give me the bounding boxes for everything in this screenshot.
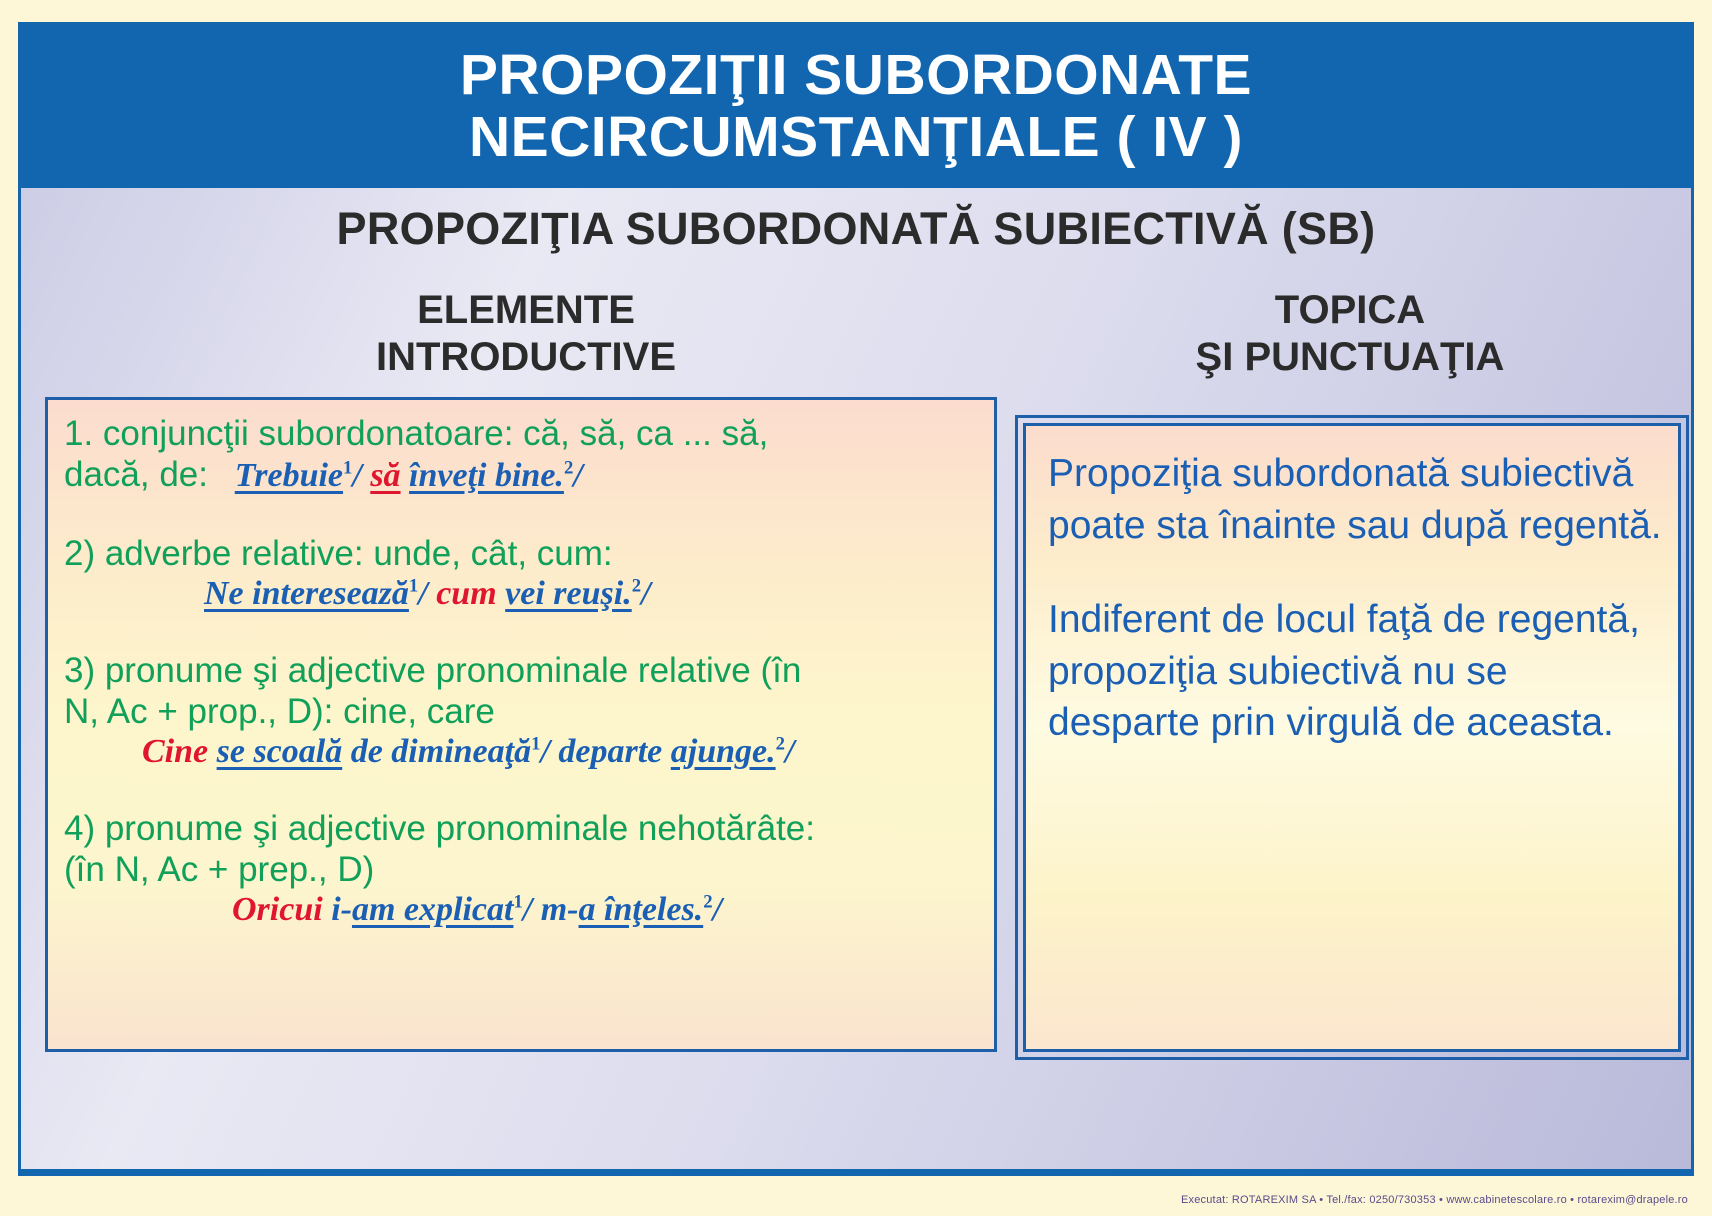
- example-2-row: Ne interesează1/ cum vei reuşi.2/: [64, 575, 978, 613]
- example-1: Trebuie1/ să înveţi bine.2/: [218, 457, 583, 494]
- rule-item-1-line2-prefix: dacă, de:: [64, 455, 208, 494]
- example-3-row: Cine se scoală de dimineaţă1/ departe aj…: [64, 733, 978, 771]
- example-1-clause2: înveţi bine.: [409, 457, 564, 494]
- example-1-sup2: 2: [564, 458, 573, 479]
- example-3-clause1-underlined: se scoală: [217, 733, 343, 770]
- left-column-heading-line1: ELEMENTE: [43, 287, 1009, 334]
- poster-title-line1: PROPOZIŢII SUBORDONATE: [460, 45, 1252, 107]
- example-2: Ne interesează1/ cum vei reuşi.2/: [204, 575, 651, 612]
- example-4-sup2: 2: [703, 891, 712, 912]
- example-1-conjunction: să: [370, 457, 400, 494]
- elements-introductive-box: 1. conjuncţii subordonatoare: că, să, ca…: [45, 397, 997, 1052]
- example-4: Oricui i-am explicat1/ m-a înţeles.2/: [232, 891, 722, 928]
- spacer-3: [64, 775, 978, 809]
- rule-item-1-line1: 1. conjuncţii subordonatoare: că, să, ca…: [64, 414, 978, 455]
- left-column-heading-line2: INTRODUCTIVE: [43, 334, 1009, 381]
- example-2-clause2: vei reuşi.: [505, 575, 632, 612]
- example-3-pronoun: Cine: [142, 733, 208, 770]
- example-4-clause1-underlined: am explicat: [352, 891, 513, 928]
- poster-title-line2: NECIRCUMSTANŢIALE ( IV ): [460, 107, 1252, 169]
- rule-item-1: 1. conjuncţii subordonatoare: că, să, ca…: [64, 414, 978, 496]
- rule-item-3: 3) pronume şi adjective pronominale rela…: [64, 651, 978, 771]
- topic-paragraph-1: Propoziţia subordonată subiectivă poate …: [1048, 448, 1662, 552]
- example-4-sep2: /: [713, 891, 722, 928]
- example-2-sup2: 2: [632, 575, 641, 596]
- example-2-sup1: 1: [409, 575, 418, 596]
- example-4-clause2-underlined: a înţeles.: [579, 891, 704, 928]
- right-column-heading: TOPICA ŞI PUNCTUAŢIA: [1021, 287, 1679, 381]
- example-3-sep2: /: [785, 733, 794, 770]
- rule-item-3-line1: 3) pronume şi adjective pronominale rela…: [64, 651, 978, 692]
- title-banner: PROPOZIŢII SUBORDONATE NECIRCUMSTANŢIALE…: [21, 25, 1691, 188]
- rule-item-1-line2: dacă, de: Trebuie1/ să înveţi bine.2/: [64, 455, 978, 496]
- rule-item-2-text: 2) adverbe relative: unde, cât, cum:: [64, 534, 978, 575]
- example-2-adverb: cum: [436, 575, 496, 612]
- rule-item-4: 4) pronume şi adjective pronominale neho…: [64, 809, 978, 929]
- bottom-strip: [18, 1170, 1694, 1176]
- example-4-pronoun: Oricui: [232, 891, 323, 928]
- spacer-1: [64, 500, 978, 534]
- example-4-sup1: 1: [513, 891, 522, 912]
- left-column-heading: ELEMENTE INTRODUCTIVE: [43, 287, 1009, 381]
- rule-item-3-line2: N, Ac + prop., D): cine, care: [64, 692, 978, 733]
- example-1-sup1: 1: [343, 458, 352, 479]
- example-1-clause1: Trebuie: [235, 457, 343, 494]
- rule-item-4-line1: 4) pronume şi adjective pronominale neho…: [64, 809, 978, 850]
- topic-spacer: [1048, 552, 1662, 594]
- example-4-clause2-pre: m-: [541, 891, 579, 928]
- example-3: Cine se scoală de dimineaţă1/ departe aj…: [142, 733, 794, 770]
- example-3-clause2-pre: departe: [558, 733, 670, 770]
- example-3-clause2-underlined: ajunge.: [671, 733, 776, 770]
- example-4-sep1: /: [523, 891, 532, 928]
- example-2-clause1: Ne interesează: [204, 575, 409, 612]
- publisher-credit: Executat: ROTAREXIM SA • Tel./fax: 0250/…: [0, 1194, 1712, 1206]
- example-2-sep2: /: [641, 575, 650, 612]
- topic-punctuation-box: Propoziţia subordonată subiectivă poate …: [1023, 423, 1681, 1052]
- topic-paragraph-2: Indiferent de locul faţă de regentă, pro…: [1048, 594, 1662, 750]
- poster-subtitle: PROPOZIŢIA SUBORDONATĂ SUBIECTIVĂ (SB): [21, 203, 1691, 255]
- example-3-sup2: 2: [776, 733, 785, 754]
- rule-item-2: 2) adverbe relative: unde, cât, cum: Ne …: [64, 534, 978, 613]
- example-4-row: Oricui i-am explicat1/ m-a înţeles.2/: [64, 891, 978, 929]
- right-column-heading-line1: TOPICA: [1021, 287, 1679, 334]
- example-4-clause1-pre: i-: [331, 891, 352, 928]
- poster-card: PROPOZIŢII SUBORDONATE NECIRCUMSTANŢIALE…: [18, 22, 1694, 1172]
- poster-root: PROPOZIŢII SUBORDONATE NECIRCUMSTANŢIALE…: [0, 0, 1712, 1216]
- example-3-clause1-rest: de dimineaţă: [342, 733, 531, 770]
- spacer-2: [64, 617, 978, 651]
- example-3-sep1: /: [540, 733, 549, 770]
- poster-title: PROPOZIŢII SUBORDONATE NECIRCUMSTANŢIALE…: [460, 45, 1252, 168]
- example-2-sep1: /: [418, 575, 427, 612]
- rule-item-4-line2: (în N, Ac + prep., D): [64, 850, 978, 891]
- example-1-sep2: /: [573, 457, 582, 494]
- right-column-heading-line2: ŞI PUNCTUAŢIA: [1021, 334, 1679, 381]
- example-1-sep1: /: [352, 457, 361, 494]
